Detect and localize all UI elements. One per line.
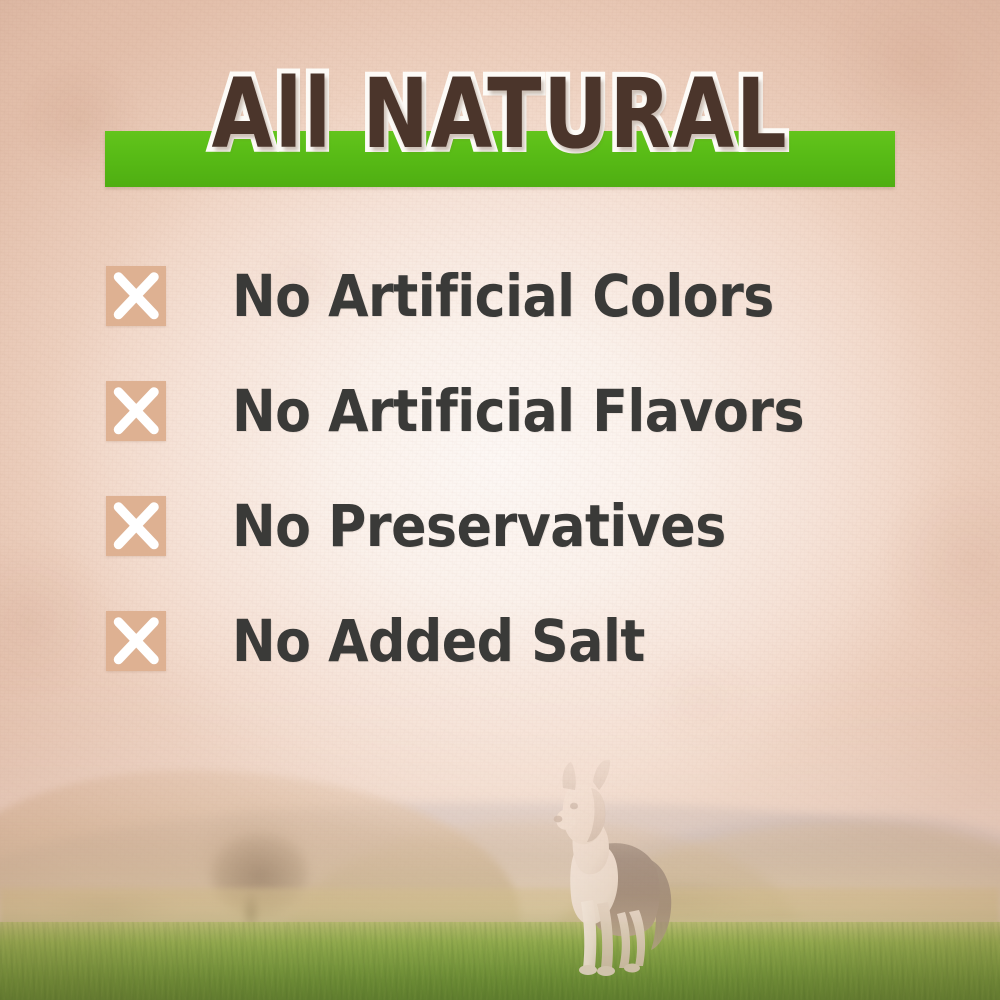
headline-block: All NATURAL xyxy=(0,62,1000,202)
claims-list: No Artificial Colors No Artificial Flavo… xyxy=(106,266,926,671)
claim-row: No Artificial Flavors xyxy=(106,381,926,441)
claim-label: No Artificial Flavors xyxy=(232,381,804,441)
claim-row: No Added Salt xyxy=(106,611,926,671)
x-mark-icon xyxy=(106,381,166,441)
claim-label: No Artificial Colors xyxy=(232,266,774,326)
x-mark-icon xyxy=(106,611,166,671)
claim-label: No Preservatives xyxy=(232,496,726,556)
claim-label: No Added Salt xyxy=(232,611,645,671)
claim-row: No Preservatives xyxy=(106,496,926,556)
poster-canvas: All NATURAL No Artificial Colors No Arti… xyxy=(0,0,1000,1000)
x-mark-icon xyxy=(106,496,166,556)
headline-text: All NATURAL xyxy=(40,62,960,166)
x-mark-icon xyxy=(106,266,166,326)
claim-row: No Artificial Colors xyxy=(106,266,926,326)
